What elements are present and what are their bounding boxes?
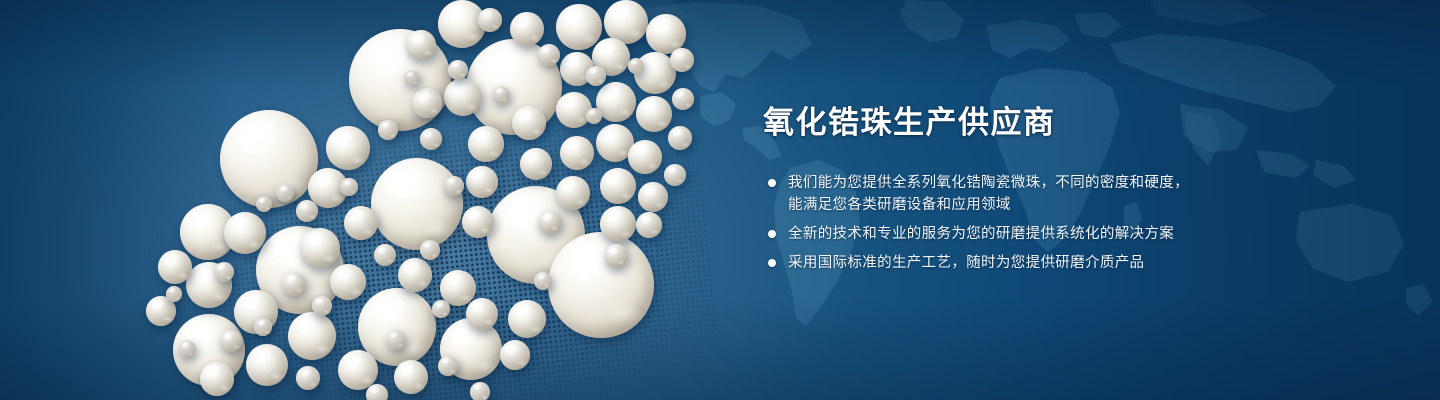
bullet-text-line-1: 采用国际标准的生产工艺，随时为您提供研磨介质产品	[788, 255, 1144, 271]
bullet-dot-icon	[768, 259, 776, 267]
bullet-dot-icon	[768, 230, 776, 238]
banner-copy-block: 氧化锆珠生产供应商 我们能为您提供全系列氧化锆陶瓷微珠，不同的密度和硬度， 能满…	[763, 104, 1303, 274]
bullet-text-line-2: 能满足您各类研磨设备和应用领域	[788, 194, 1303, 216]
bullet-text-line-1: 我们能为您提供全系列氧化锆陶瓷微珠，不同的密度和硬度，	[788, 175, 1189, 191]
hero-banner: 氧化锆珠生产供应商 我们能为您提供全系列氧化锆陶瓷微珠，不同的密度和硬度， 能满…	[0, 0, 1440, 400]
page-title: 氧化锆珠生产供应商	[763, 104, 1303, 142]
bullet-text-line-1: 全新的技术和专业的服务为您的研磨提供系统化的解决方案	[788, 226, 1174, 242]
zirconia-beads-photo	[0, 0, 780, 400]
list-item: 采用国际标准的生产工艺，随时为您提供研磨介质产品	[763, 252, 1303, 274]
bullet-dot-icon	[768, 179, 776, 187]
feature-bullet-list: 我们能为您提供全系列氧化锆陶瓷微珠，不同的密度和硬度， 能满足您各类研磨设备和应…	[763, 172, 1303, 274]
list-item: 我们能为您提供全系列氧化锆陶瓷微珠，不同的密度和硬度， 能满足您各类研磨设备和应…	[763, 172, 1303, 216]
list-item: 全新的技术和专业的服务为您的研磨提供系统化的解决方案	[763, 223, 1303, 245]
